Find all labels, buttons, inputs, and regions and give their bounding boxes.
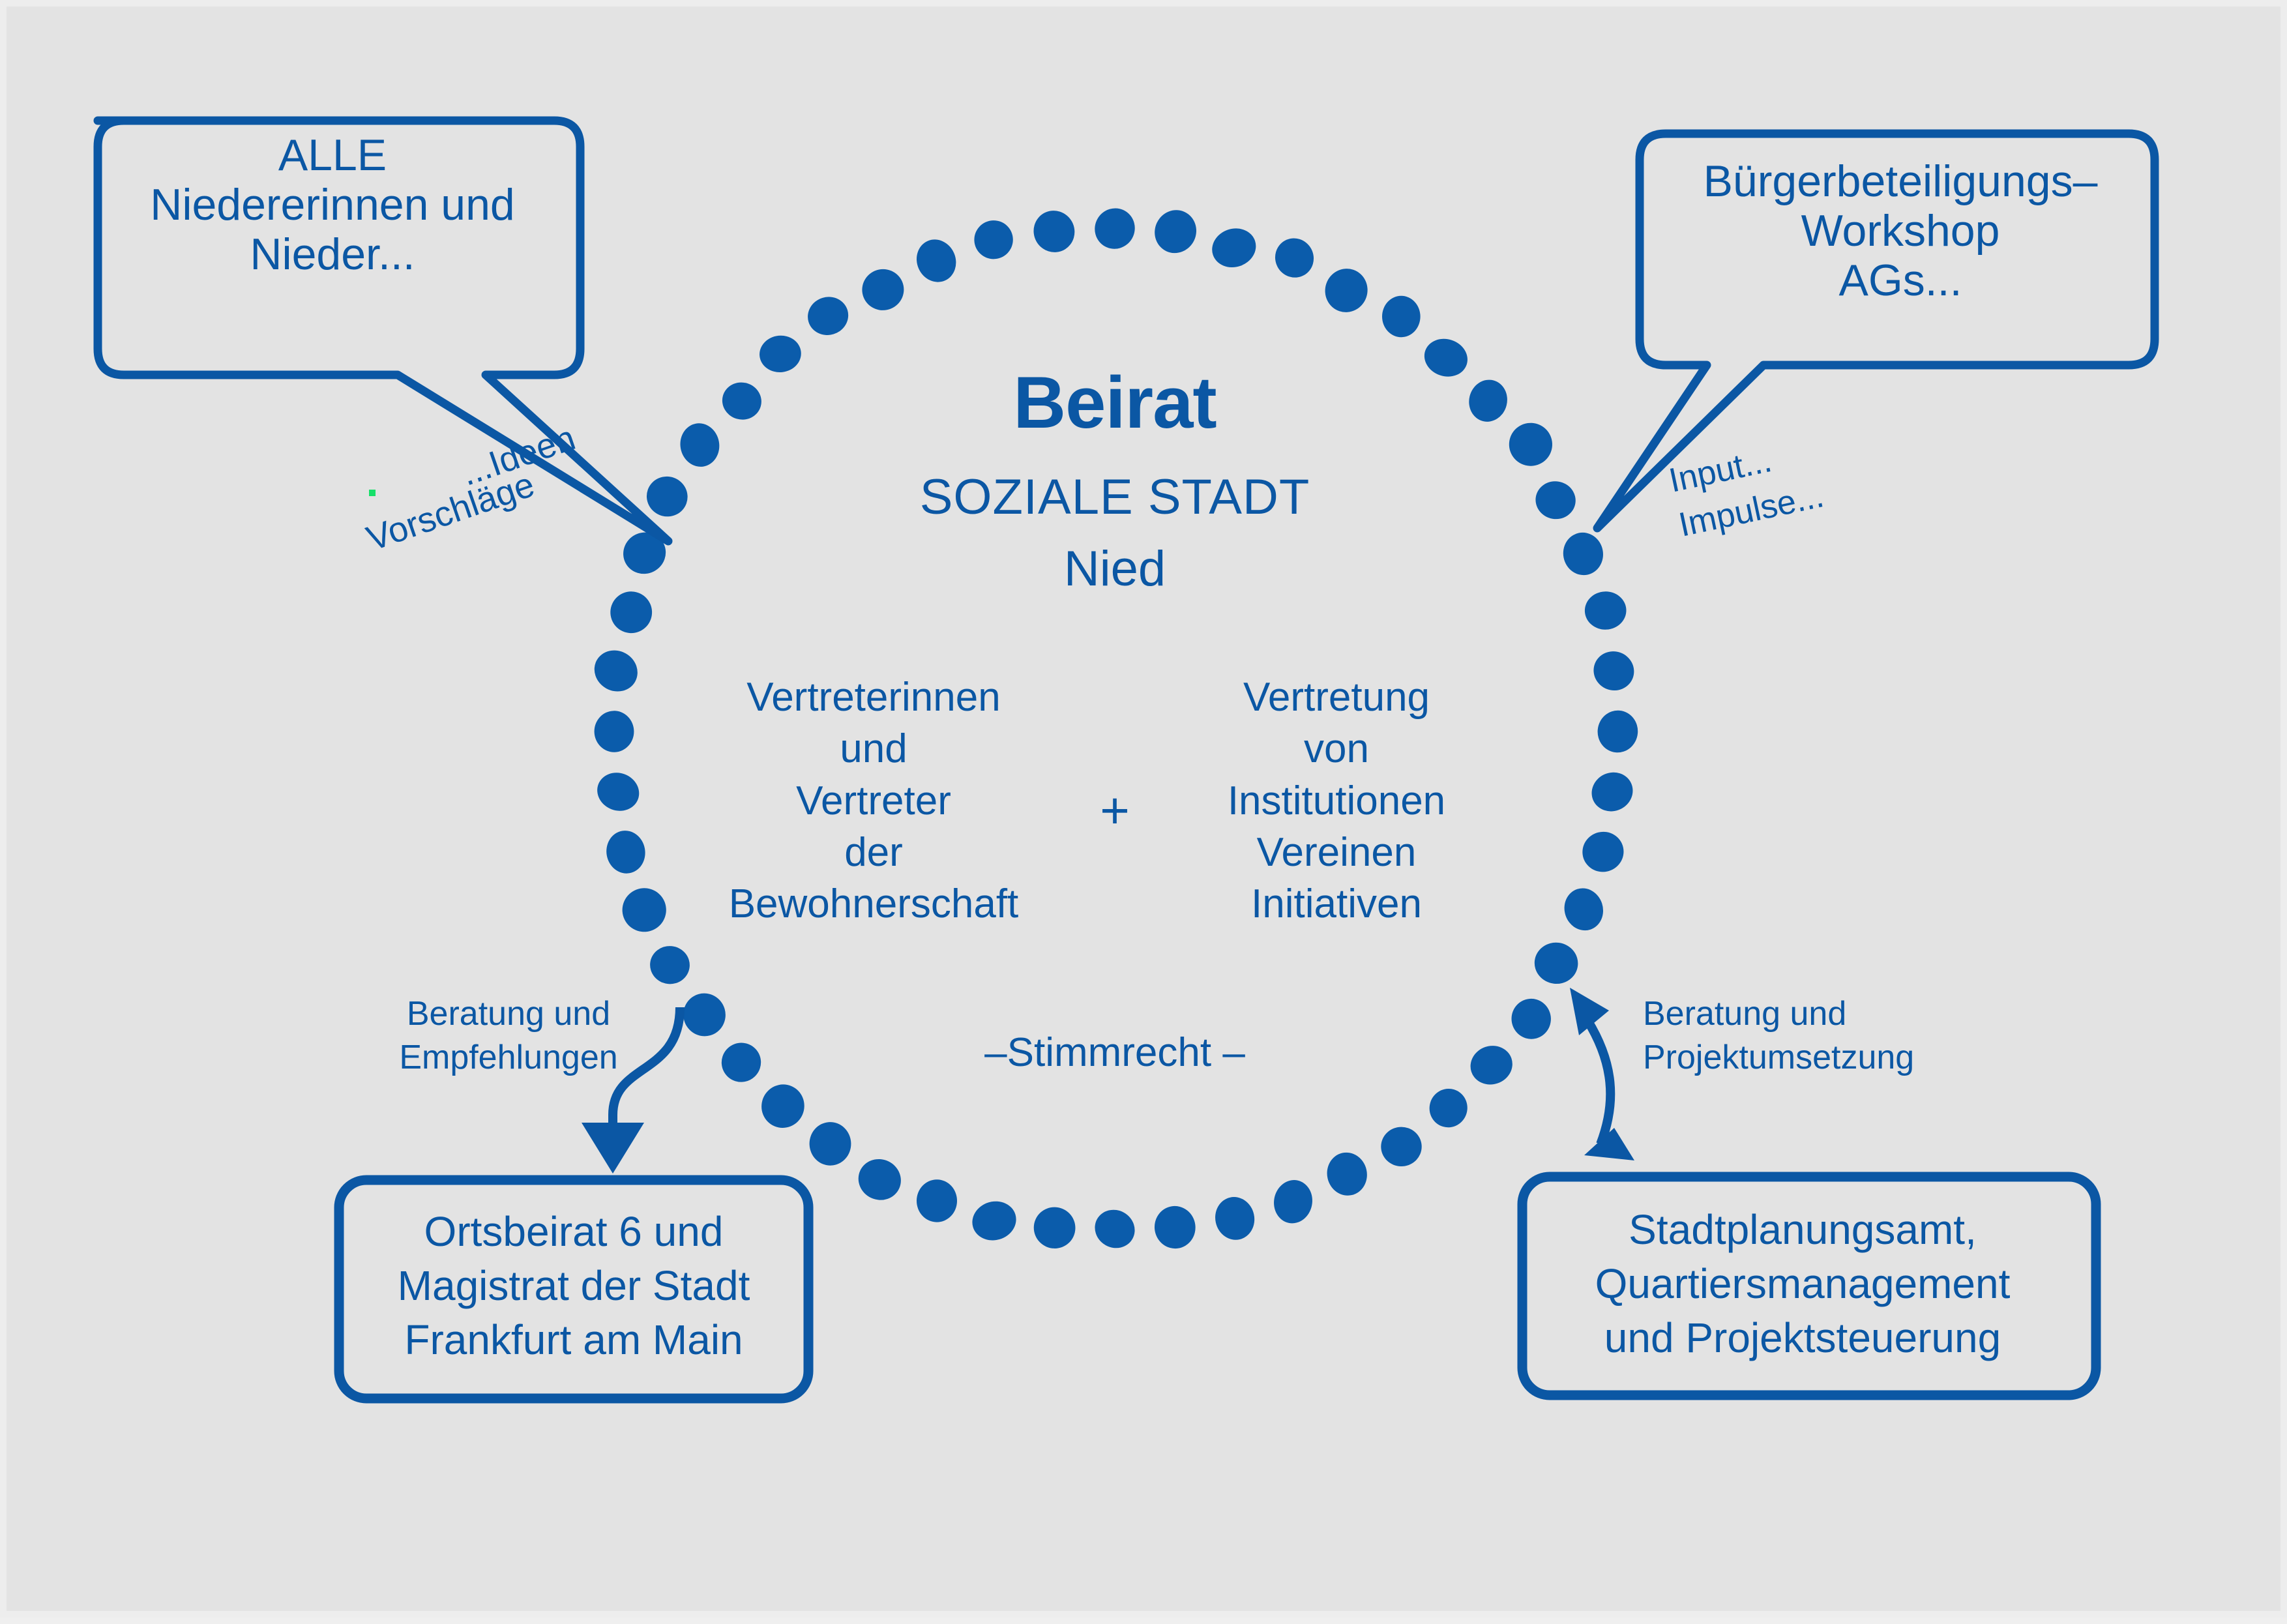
circle-subtitle-1: SOZIALE STADT [821,469,1408,525]
circle-title: Beirat [854,362,1376,443]
circle-footer-stimmrecht: –Stimmrecht – [919,1030,1310,1075]
circle-dot [1505,418,1557,471]
bubble-left-label: ALLE Niedererinnen und Nieder... [104,130,561,279]
column-right-line-4: Vereinen [1200,827,1473,878]
circle-dot [718,378,765,424]
circle-dot [1152,1203,1198,1251]
circle-dot [1270,1177,1316,1227]
circle-dot [715,1036,767,1089]
circle-dot [917,1179,957,1222]
circle-dot [1026,203,1082,259]
circle-dot [1087,201,1142,256]
circle-dot [604,585,658,639]
bubble-right-label: Bürgerbeteiligungs– Workshop AGs... [1675,156,2125,305]
bubble-left-line-3: Nieder... [104,229,561,279]
circle-dot [859,265,907,314]
box-left-line-2: Magistrat der Stadt [346,1259,802,1313]
box-left-line-1: Ortsbeirat 6 und [346,1205,802,1259]
circle-dot [967,1196,1021,1246]
bubble-left-line-2: Niedererinnen und [104,180,561,229]
column-left-line-1: Vertreterinnen [711,672,1037,723]
circle-dot [1559,883,1608,936]
beratung-right-line-1: Beratung und [1643,992,1949,1036]
column-left-line-2: und [711,723,1037,775]
box-right-line-3: und Projektsteuerung [1532,1311,2073,1365]
circle-dot [851,1152,907,1207]
box-stadtplanungsamt-label: Stadtplanungsamt, Quartiersmanagement un… [1532,1203,2073,1366]
circle-dot [1207,223,1261,273]
beratung-right-line-2: Projektumsetzung [1643,1036,1949,1080]
circle-dot [587,643,645,699]
column-left-line-4: der [711,827,1037,878]
diagram-canvas: ALLE Niedererinnen und Nieder... Bürgerb… [0,0,2287,1617]
box-ortsbeirat-label: Ortsbeirat 6 und Magistrat der Stadt Fra… [346,1205,802,1368]
circle-dot [1211,1193,1259,1244]
circle-dot [1466,1041,1518,1090]
column-left-line-5: Bewohnerschaft [711,878,1037,930]
circle-dot [1088,1203,1142,1256]
annotation-beratung-empfehlungen: Beratung und Empfehlungen [378,992,639,1079]
circle-dot [1578,828,1627,876]
bubble-right-line-1: Bürgerbeteiligungs– [1675,156,2125,206]
green-artifact-dot [369,490,376,496]
circle-dot [1464,376,1511,426]
circle-dot [1147,203,1203,260]
circle-dot [1588,645,1640,696]
circle-dot [1419,333,1472,382]
circle-dot [1381,1127,1422,1166]
beratung-left-line-2: Empfehlungen [378,1036,639,1080]
circle-column-left: Vertreterinnen und Vertreter der Bewohne… [711,672,1037,930]
box-right-line-1: Stadtplanungsamt, [1532,1203,2073,1257]
circle-subtitle-2: Nied [821,541,1408,597]
column-right-line-2: von [1200,723,1473,775]
circle-dot [1532,940,1580,986]
circle-dot [1323,1149,1371,1200]
column-left-line-3: Vertreter [711,775,1037,827]
circle-dot [641,471,693,522]
circle-dot [803,292,853,340]
circle-dot [808,1121,851,1166]
circle-dot [648,944,692,986]
circle-dot [677,420,723,470]
bubble-right-line-2: Workshop [1675,206,2125,256]
box-left-line-3: Frankfurt am Main [346,1313,802,1367]
circle-dot [617,883,671,937]
circle-dot [1586,766,1640,818]
column-right-line-1: Vertretung [1200,672,1473,723]
circle-dot [1424,1084,1472,1132]
circle-dot [910,233,963,288]
circle-dot [594,710,635,752]
circle-dot [1320,263,1374,317]
column-right-line-3: Institutionen [1200,775,1473,827]
circle-dot [678,988,730,1041]
circle-column-right: Vertretung von Institutionen Vereinen In… [1200,672,1473,930]
circle-dot [758,334,803,374]
circle-dot [1382,296,1421,338]
plus-operator: + [1076,782,1154,839]
bubble-left-line-1: ALLE [104,130,561,180]
circle-dot [1509,997,1553,1041]
box-right-line-2: Quartiersmanagement [1532,1257,2073,1311]
circle-dot [592,767,645,817]
circle-dot [755,1078,811,1134]
circle-dot [1268,231,1320,284]
arrow-beratung-projektumsetzung [1570,988,1634,1160]
beratung-left-line-1: Beratung und [378,992,639,1036]
circle-dot [968,214,1020,265]
circle-dot [1533,479,1578,522]
annotation-beratung-projektumsetzung: Beratung und Projektumsetzung [1643,992,1949,1079]
circle-dot [603,827,649,876]
bubble-right-line-3: AGs... [1675,256,2125,305]
circle-dot [1584,591,1627,630]
circle-dot [1027,1200,1082,1255]
column-right-line-5: Initiativen [1200,878,1473,930]
circle-dot [1596,709,1640,754]
circle-dot [1559,529,1607,578]
